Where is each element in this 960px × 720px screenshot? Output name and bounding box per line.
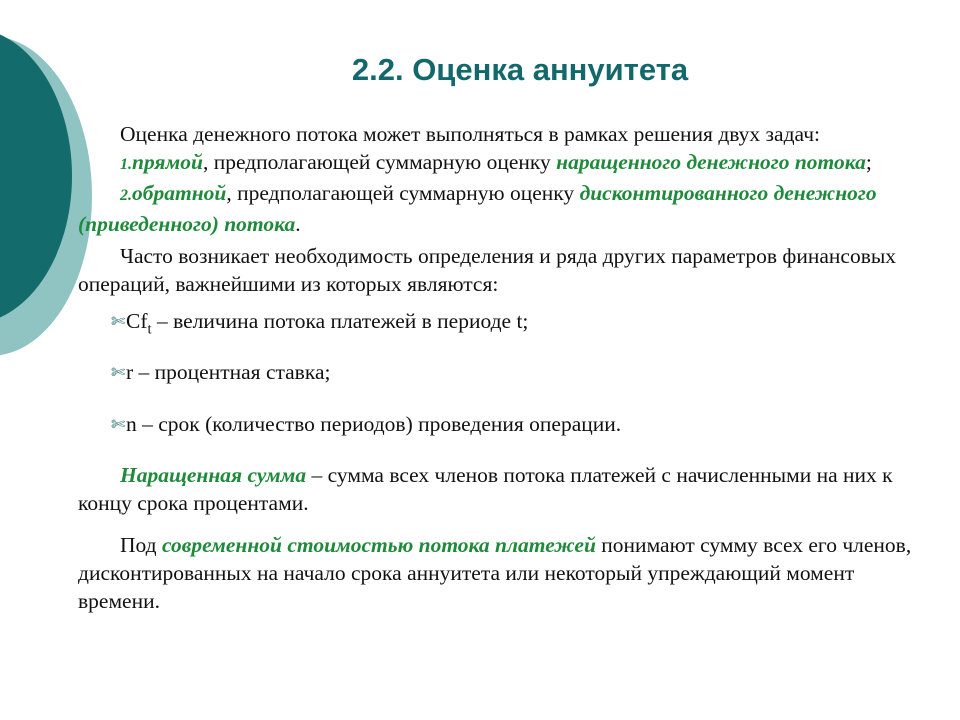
list-item: ✄n – срок (количество периодов) проведен…: [78, 410, 934, 446]
present-value-lead: Под: [120, 533, 162, 557]
spacer: [78, 517, 934, 531]
presentation-slide: 2.2. Оценка аннуитета Оценка денежного п…: [0, 0, 960, 720]
bullet-2-text: – процентная ставка;: [133, 360, 330, 384]
definition-present-value: Под современной стоимостью потока платеж…: [78, 531, 934, 615]
list-item: ✄Cft – величина потока платежей в период…: [78, 307, 934, 343]
scissors-icon: ✄: [111, 359, 125, 387]
intro-text: Оценка денежного потока может выполнятьс…: [120, 122, 820, 146]
item-1-end: ;: [866, 150, 872, 174]
parameter-list: ✄Cft – величина потока платежей в период…: [78, 307, 934, 446]
item-1-number: 1.: [120, 156, 132, 173]
item-1-mid: , предполагающей суммарную оценку: [203, 150, 556, 174]
bullet-1-text: – величина потока платежей в периоде t;: [152, 309, 529, 333]
bullet-3-symbol: n: [126, 412, 137, 436]
item-1-emphasis: наращенного денежного потока: [556, 150, 866, 174]
accrued-sum-term: Наращенная сумма: [120, 463, 306, 487]
item-2-number: 2.: [120, 187, 132, 204]
bullet-3-text: – срок (количество периодов) проведения …: [137, 412, 621, 436]
paragraph-often-text: Часто возникает необходимость определени…: [78, 244, 896, 296]
item-1-term: прямой: [132, 150, 203, 174]
intro-paragraph: Оценка денежного потока может выполнятьс…: [78, 120, 934, 148]
slide-body: Оценка денежного потока может выполнятьс…: [78, 120, 934, 615]
numbered-item-2: 2.обратной, предполагающей суммарную оце…: [78, 179, 934, 238]
scissors-icon: ✄: [111, 411, 125, 439]
numbered-item-1: 1.прямой, предполагающей суммарную оценк…: [78, 148, 934, 179]
scissors-icon: ✄: [111, 308, 125, 336]
page-title: 2.2. Оценка аннуитета: [120, 52, 920, 88]
paragraph-often: Часто возникает необходимость определени…: [78, 242, 934, 298]
item-2-end: .: [295, 212, 300, 236]
item-2-term: обратной: [132, 181, 226, 205]
list-item: ✄r – процентная ставка;: [78, 358, 934, 394]
present-value-term: современной стоимостью потока платежей: [162, 533, 596, 557]
spacer: [78, 298, 934, 307]
bullet-1-symbol: Cf: [126, 309, 148, 333]
definition-accrued-sum: Наращенная сумма – сумма всех членов пот…: [78, 461, 934, 517]
item-2-mid: , предполагающей суммарную оценку: [226, 181, 579, 205]
